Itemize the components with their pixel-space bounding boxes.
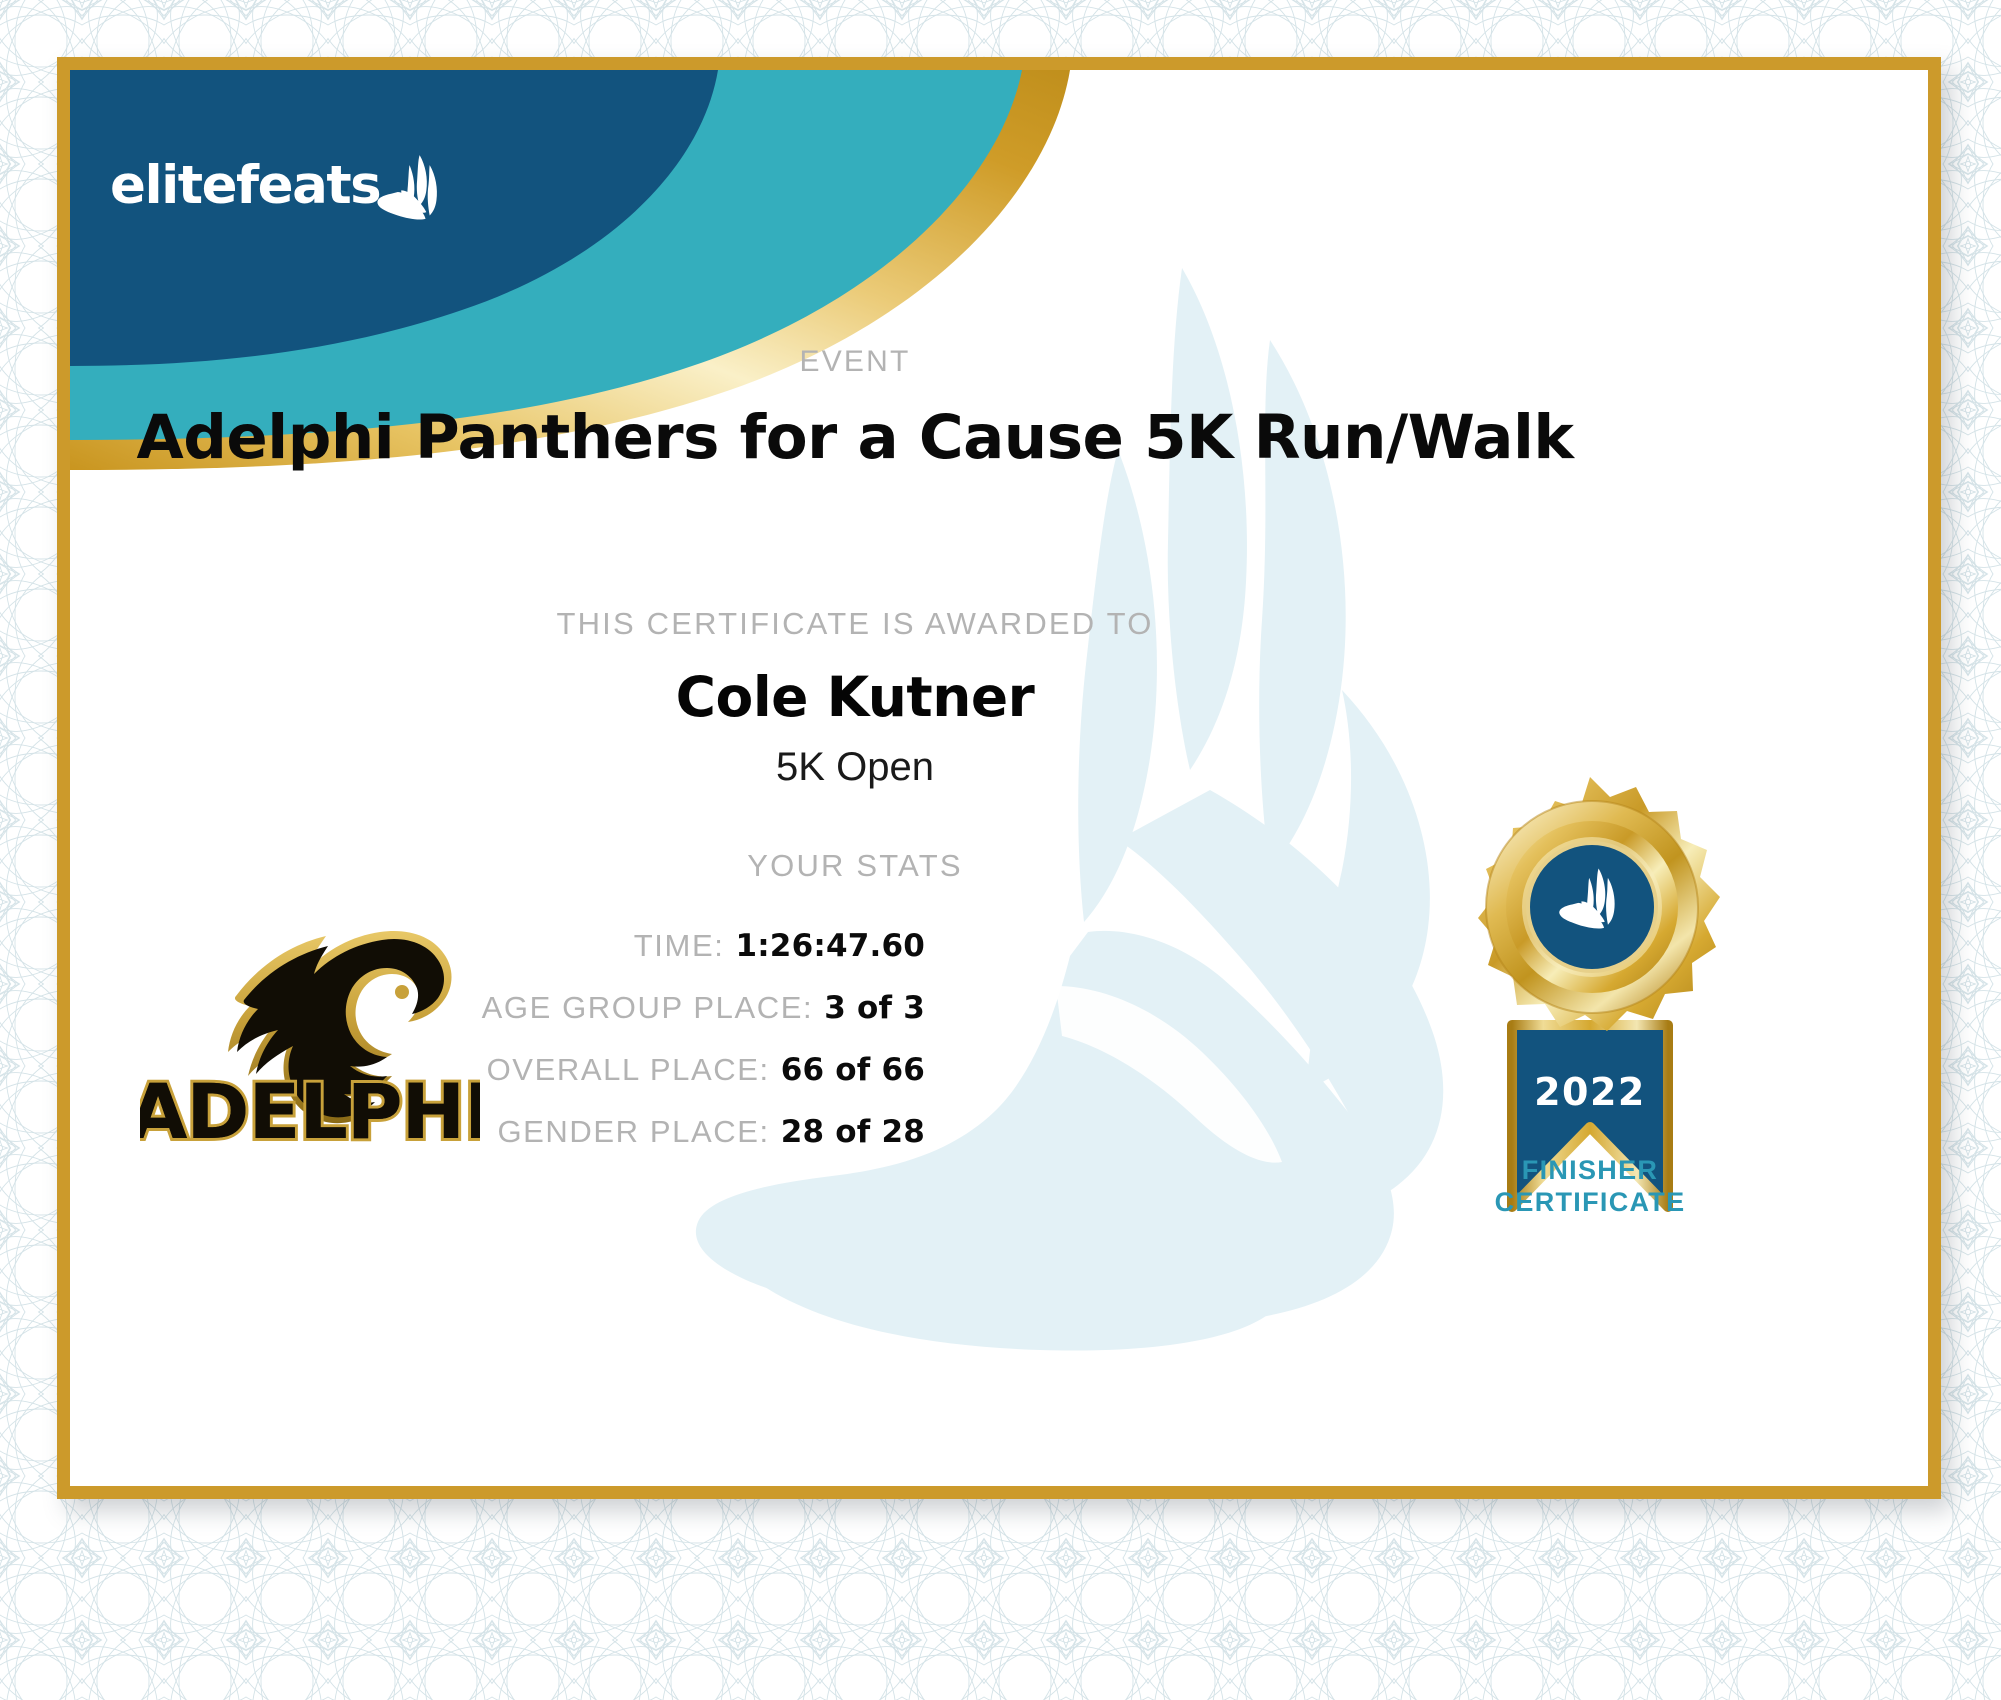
winged-foot-icon xyxy=(376,147,440,227)
division-label: 5K Open xyxy=(70,745,1640,790)
adelphi-logo: ADELPHI ADELPHI xyxy=(140,900,480,1160)
stat-value: 1:26:47.60 xyxy=(735,928,925,964)
badge-year: 2022 xyxy=(1534,1070,1646,1114)
certificate-frame: elitefeats EVENT Adelphi Panthers for a … xyxy=(57,57,1941,1499)
stat-key: TIME: xyxy=(634,928,725,964)
elitefeats-logo: elitefeats xyxy=(110,130,440,240)
certificate-body: elitefeats EVENT Adelphi Panthers for a … xyxy=(70,70,1928,1486)
badge-caption: FINISHER CERTIFICATE xyxy=(1430,1155,1750,1219)
stat-key: GENDER PLACE: xyxy=(497,1114,769,1150)
stat-key: OVERALL PLACE: xyxy=(487,1052,770,1088)
badge-caption-line2: CERTIFICATE xyxy=(1430,1187,1750,1219)
event-title: Adelphi Panthers for a Cause 5K Run/Walk xyxy=(70,402,1640,473)
stat-value: 28 of 28 xyxy=(781,1114,925,1150)
adelphi-wordmark: ADELPHI ADELPHI xyxy=(140,1067,480,1156)
svg-text:ADELPHI: ADELPHI xyxy=(140,1067,480,1156)
brand-wordmark: elitefeats xyxy=(110,159,380,212)
recipient-name: Cole Kutner xyxy=(70,665,1640,729)
event-label: EVENT xyxy=(70,345,1640,379)
stat-key: AGE GROUP PLACE: xyxy=(482,990,814,1026)
your-stats-label: YOUR STATS xyxy=(70,848,1640,884)
awarded-to-label: THIS CERTIFICATE IS AWARDED TO xyxy=(70,606,1640,642)
badge-caption-line1: FINISHER xyxy=(1430,1155,1750,1187)
stat-value: 66 of 66 xyxy=(781,1052,925,1088)
stat-value: 3 of 3 xyxy=(824,990,925,1026)
certificate-page: elitefeats EVENT Adelphi Panthers for a … xyxy=(0,0,2001,1700)
